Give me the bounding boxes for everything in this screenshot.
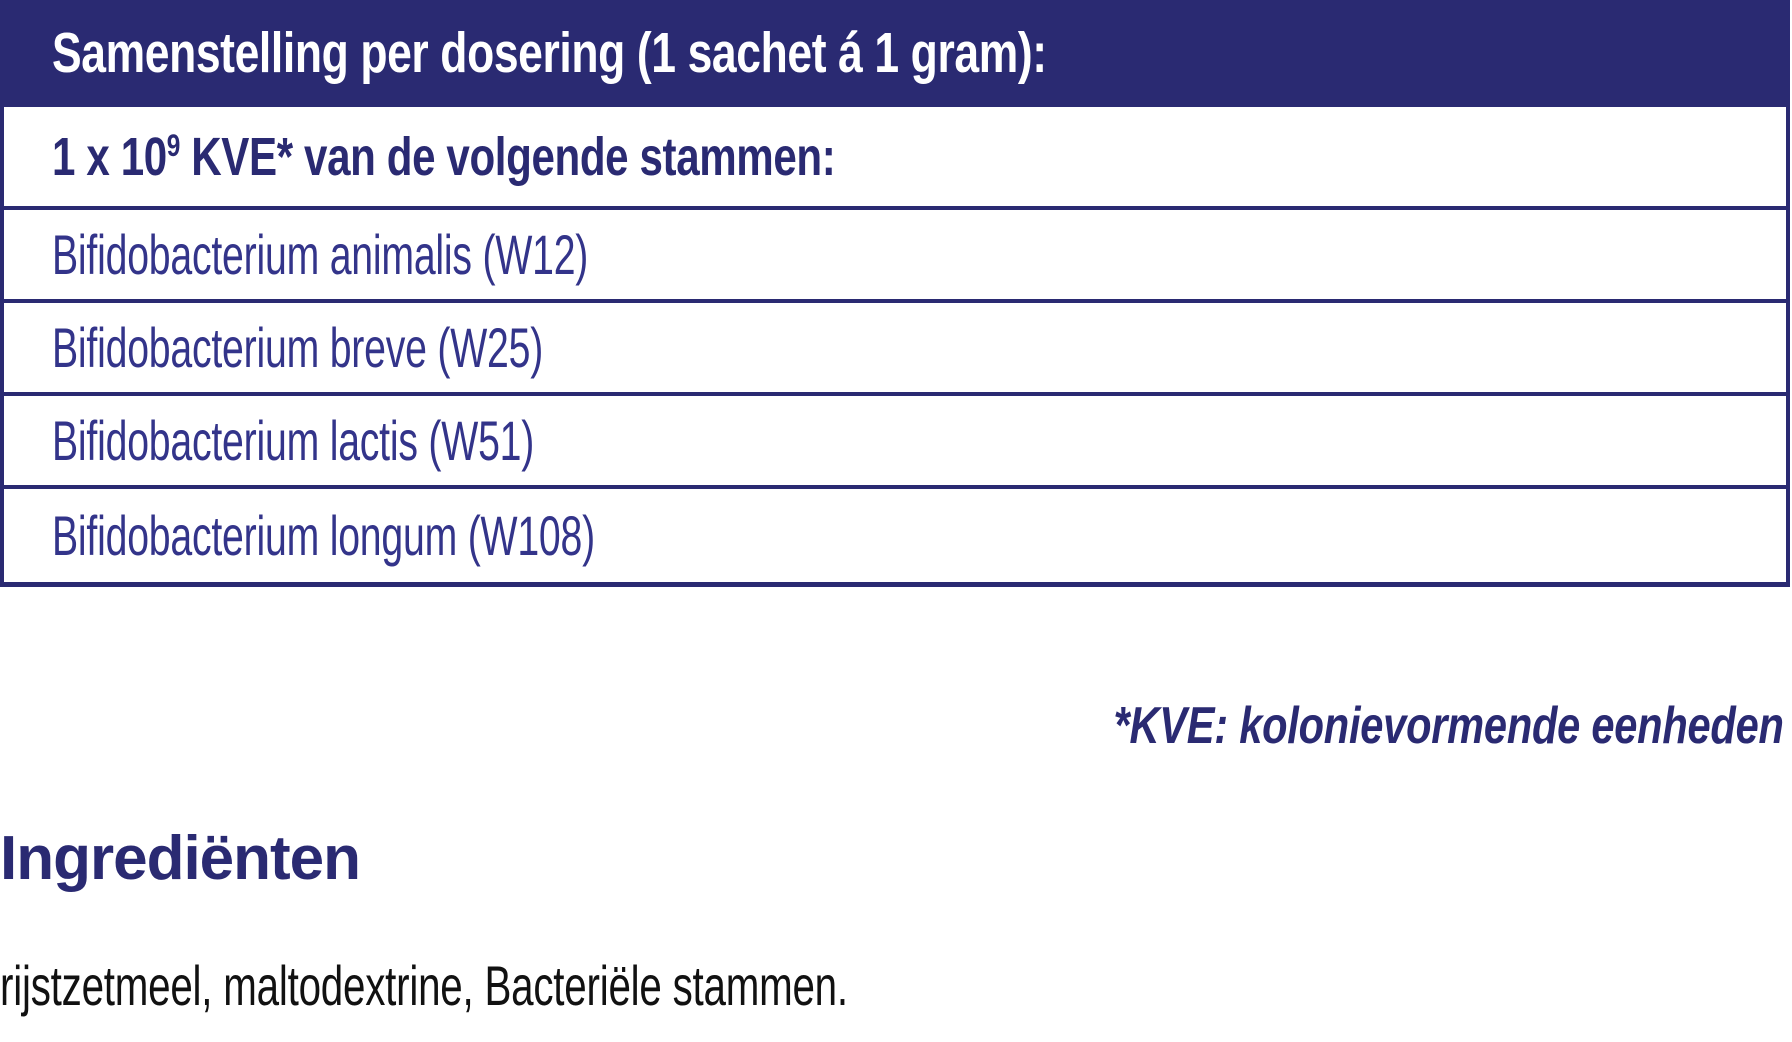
- table-row-subheading: 1 x 109 KVE* van de volgende stammen:: [4, 107, 1786, 210]
- table-row: Bifidobacterium animalis (W12): [4, 210, 1786, 303]
- composition-table-header: Samenstelling per dosering (1 sachet á 1…: [0, 0, 1790, 107]
- cfu-exponent: 9: [167, 128, 180, 163]
- strain-label: Bifidobacterium breve (W25): [52, 320, 543, 376]
- composition-table-title: Samenstelling per dosering (1 sachet á 1…: [52, 25, 1047, 82]
- table-row: Bifidobacterium lactis (W51): [4, 396, 1786, 489]
- cfu-prefix: 1 x 10: [52, 127, 167, 187]
- cfu-footnote: *KVE: kolonievormende eenheden: [1114, 700, 1784, 752]
- table-row: Bifidobacterium breve (W25): [4, 303, 1786, 396]
- composition-table-body: 1 x 109 KVE* van de volgende stammen: Bi…: [0, 107, 1790, 587]
- cfu-suffix: KVE* van de volgende stammen:: [180, 127, 835, 187]
- strain-label: Bifidobacterium longum (W108): [52, 508, 595, 564]
- strain-label: Bifidobacterium animalis (W12): [52, 227, 588, 283]
- ingredients-list: rijstzetmeel, maltodextrine, Bacteriële …: [0, 958, 848, 1014]
- composition-table: Samenstelling per dosering (1 sachet á 1…: [0, 0, 1790, 587]
- footnote-container: *KVE: kolonievormende eenheden: [4, 700, 1784, 752]
- ingredients-heading: Ingrediënten: [0, 828, 360, 890]
- table-row: Bifidobacterium longum (W108): [4, 489, 1786, 582]
- cfu-subheading: 1 x 109 KVE* van de volgende stammen:: [52, 130, 835, 184]
- strain-label: Bifidobacterium lactis (W51): [52, 413, 534, 469]
- nutrition-label-page: Samenstelling per dosering (1 sachet á 1…: [0, 0, 1792, 1042]
